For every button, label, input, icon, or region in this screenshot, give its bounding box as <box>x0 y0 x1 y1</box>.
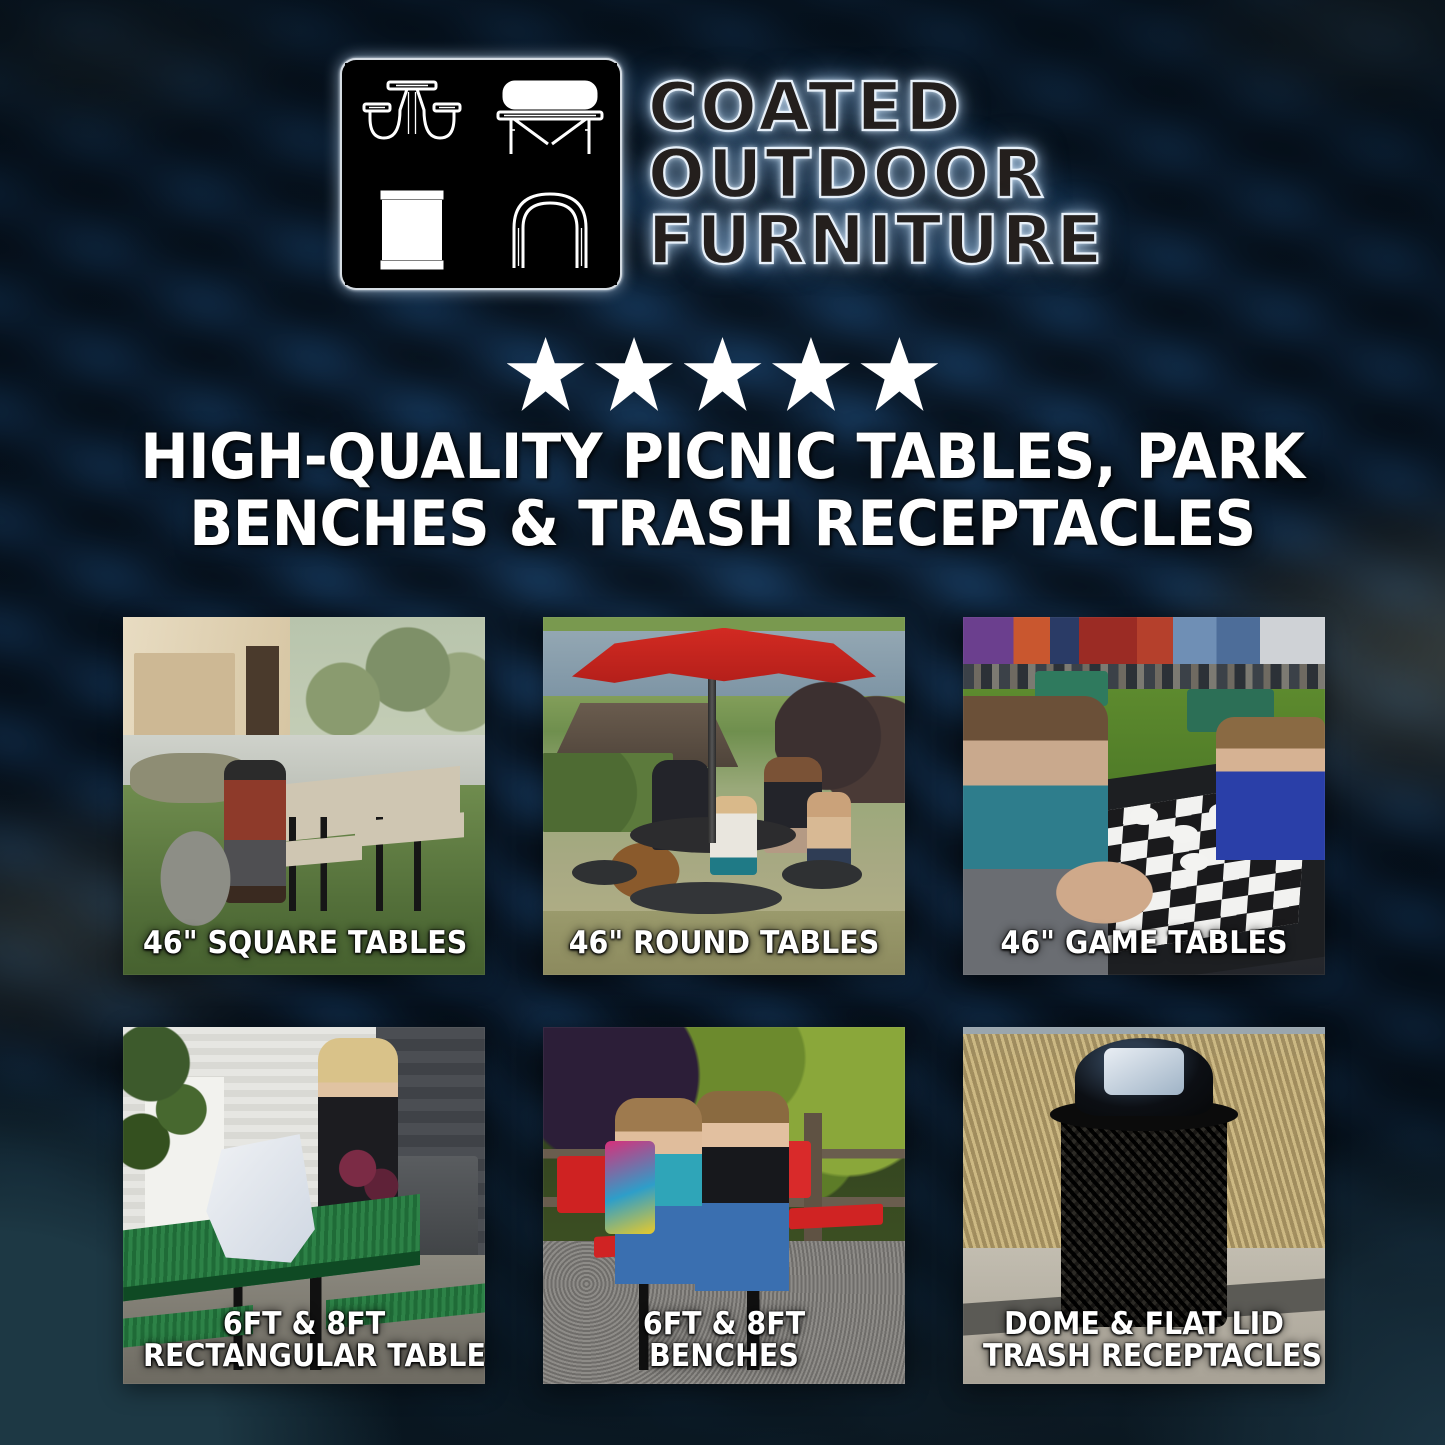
arch-bench-icon <box>482 176 617 286</box>
square-picnic-table-icon <box>345 63 480 173</box>
product-tile-rectangular-tables[interactable]: 6FT & 8FT RECTANGULAR TABLES <box>123 1027 485 1384</box>
product-caption-trash-receptacles: DOME & FLAT LID TRASH RECEPTACLES <box>983 1308 1305 1372</box>
product-photo-game-tables <box>963 617 1325 975</box>
product-tile-trash-receptacles[interactable]: DOME & FLAT LID TRASH RECEPTACLES <box>963 1027 1325 1384</box>
caption-line: RECTANGULAR TABLES <box>143 1340 465 1372</box>
product-tile-benches[interactable]: 6FT & 8FT BENCHES <box>543 1027 905 1384</box>
page-title: HIGH-QUALITY PICNIC TABLES, PARK BENCHES… <box>97 424 1348 558</box>
brand-name-line-1: COATED <box>648 75 1105 140</box>
product-category-grid: 46" SQUARE TABLES <box>123 617 1325 1384</box>
product-tile-round-tables[interactable]: 46" ROUND TABLES <box>543 617 905 975</box>
star-icon <box>507 337 585 411</box>
caption-line: 46" ROUND TABLES <box>563 927 885 959</box>
five-star-rating <box>0 337 1445 411</box>
brand-name-line-2: OUTDOOR <box>648 142 1105 207</box>
star-icon <box>860 337 938 411</box>
caption-line: 6FT & 8FT <box>563 1308 885 1340</box>
product-caption-square-tables: 46" SQUARE TABLES <box>143 927 465 959</box>
product-photo-square-tables <box>123 617 485 975</box>
brand-name-text: COATED OUTDOOR FURNITURE <box>648 75 1105 274</box>
product-tile-game-tables[interactable]: 46" GAME TABLES <box>963 617 1325 975</box>
brand-name-line-3: FURNITURE <box>648 208 1105 273</box>
product-caption-game-tables: 46" GAME TABLES <box>983 927 1305 959</box>
product-photo-round-tables <box>543 617 905 975</box>
caption-line: 6FT & 8FT <box>143 1308 465 1340</box>
logo-mark-four-icons <box>340 58 622 290</box>
caption-line: 46" GAME TABLES <box>983 927 1305 959</box>
product-caption-round-tables: 46" ROUND TABLES <box>563 927 885 959</box>
star-icon <box>684 337 762 411</box>
product-caption-rectangular-tables: 6FT & 8FT RECTANGULAR TABLES <box>143 1308 465 1372</box>
brand-logo-lockup: COATED OUTDOOR FURNITURE <box>0 58 1445 290</box>
park-bench-icon <box>482 63 617 173</box>
caption-line: TRASH RECEPTACLES <box>983 1340 1305 1372</box>
caption-line: 46" SQUARE TABLES <box>143 927 465 959</box>
star-icon <box>595 337 673 411</box>
product-tile-square-tables[interactable]: 46" SQUARE TABLES <box>123 617 485 975</box>
caption-line: DOME & FLAT LID <box>983 1308 1305 1340</box>
caption-line: BENCHES <box>563 1340 885 1372</box>
star-icon <box>772 337 850 411</box>
poster-content: COATED OUTDOOR FURNITURE HIGH-QUALITY PI… <box>0 0 1445 1445</box>
promotional-poster: COATED OUTDOOR FURNITURE HIGH-QUALITY PI… <box>0 0 1445 1445</box>
headline-line-2: BENCHES & TRASH RECEPTACLES <box>97 491 1348 558</box>
trash-receptacle-icon <box>345 176 480 286</box>
headline-line-1: HIGH-QUALITY PICNIC TABLES, PARK <box>97 424 1348 491</box>
product-caption-benches: 6FT & 8FT BENCHES <box>563 1308 885 1372</box>
